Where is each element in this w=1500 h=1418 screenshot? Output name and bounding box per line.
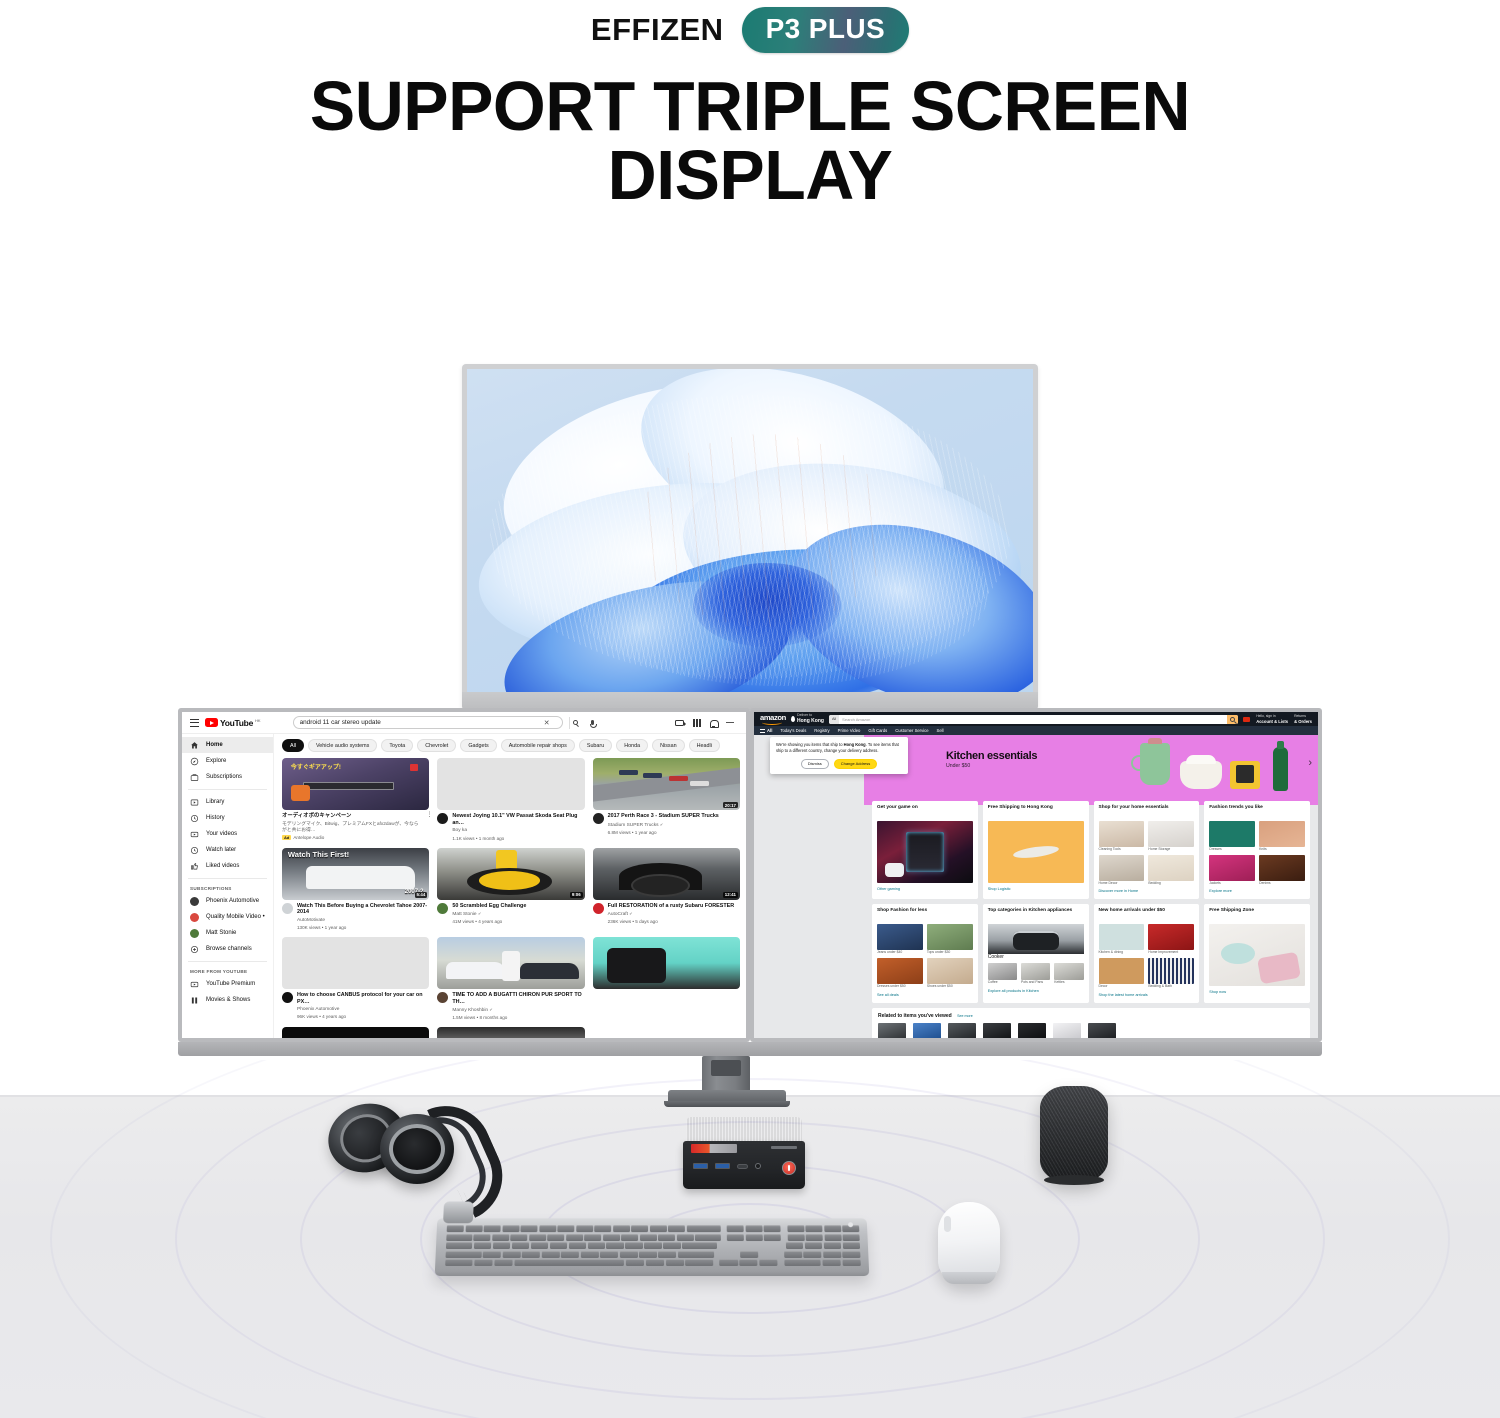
filter-chip-row: All Vehicle audio systems Toyota Chevrol… (282, 739, 740, 752)
sidebar-item-watch-later[interactable]: Watch later (182, 842, 273, 858)
movies-icon (190, 996, 199, 1005)
video-thumbnail[interactable]: TUNDRA (282, 1027, 429, 1038)
card-row: Get your game on Other gaming Free Shipp… (872, 801, 1310, 899)
card-image[interactable] (1021, 963, 1050, 980)
subscriptions-header: SUBSCRIPTIONS (182, 883, 273, 893)
account-lists-label: Account & Lists (1256, 719, 1288, 724)
filter-chip[interactable]: Gadgets (460, 739, 496, 752)
top-monitor-screen (467, 369, 1033, 692)
video-text: 2017 Perth Race 3 - Stadium SUPER Trucks… (608, 813, 740, 835)
card-image (988, 821, 1084, 883)
left-monitor: YouTube HK android 11 car stereo update … (178, 708, 750, 1042)
account-menu[interactable]: Hello, sign in Account & Lists (1256, 713, 1288, 725)
hero-subtitle: Under $50 (946, 763, 1037, 769)
video-meta: How to choose CANBUS protocol for your c… (282, 992, 429, 1019)
card-image[interactable] (988, 924, 1084, 954)
card-image[interactable] (1148, 958, 1194, 984)
sidebar-divider (188, 878, 267, 879)
product-card[interactable]: Fashion trends you like Dresses Knits Ja… (1204, 801, 1310, 899)
image-label: Bedding & Bath (1148, 985, 1194, 989)
nav-item-customer-service[interactable]: Customer Service (895, 728, 928, 733)
sidebar-item-library[interactable]: Library (182, 794, 273, 810)
search-category-dropdown[interactable]: All (829, 715, 839, 724)
play-icon (205, 718, 218, 727)
avatar (437, 992, 448, 1003)
verified-icon: ✔ (478, 911, 481, 916)
mini-pc-port-row (693, 1163, 761, 1169)
toaster-product-image (1230, 761, 1260, 789)
video-channel: AutoCraft ✔ (608, 911, 740, 918)
image-label: Cleaning Tools (1099, 848, 1145, 852)
filter-chip[interactable]: Subaru (579, 739, 612, 752)
keyboard-rows (445, 1225, 861, 1266)
filter-chip[interactable]: Honda (616, 739, 648, 752)
right-monitor-screen: amazon Deliver to Hong Kong (754, 712, 1318, 1038)
image-label: Tops under $30 (927, 951, 973, 955)
related-item[interactable] (878, 1023, 906, 1038)
product-card[interactable]: Get your game on Other gaming (872, 801, 978, 899)
clock-icon (190, 846, 199, 855)
card-quad-grid: Dresses Knits Jackets Denims (1209, 821, 1305, 885)
sidebar-divider (188, 789, 267, 790)
card-image[interactable] (877, 924, 923, 950)
video-stats: 130K views • 1 year ago (297, 925, 429, 930)
youtube-feed: All Vehicle audio systems Toyota Chevrol… (274, 734, 746, 1038)
video-duration: 12:41 (723, 892, 738, 898)
card-quad-grid: Kitchen & dining Home Improvement Decor … (1099, 924, 1195, 988)
video-duration: 9:06 (570, 892, 583, 898)
top-monitor (462, 364, 1038, 710)
card-link[interactable]: Explore all products in Kitchen (988, 989, 1084, 993)
sidebar-label: Home (206, 742, 223, 748)
avatar (437, 813, 448, 824)
video-title: Watch This Before Buying a Chevrolet Tah… (297, 903, 429, 917)
card-link[interactable]: Explore more (1209, 889, 1305, 893)
video-text: オーディオボのキャンペーン モデリングマイク、Bitwig、プレミアムFXとaf… (282, 813, 422, 840)
image-label: Jackets (1209, 882, 1255, 886)
video-duration: 5:44 (415, 892, 428, 898)
usb-a-port[interactable] (715, 1163, 730, 1169)
youtube-logo-text: YouTube (220, 718, 253, 728)
video-grid: 今すぐギアアップ! オーディオボのキャンペーン モデリングマイク、Bitwig、… (282, 758, 740, 1038)
video-duration: 20:17 (723, 802, 738, 808)
video-thumbnail[interactable]: 20:17 (593, 758, 740, 810)
image-label: Kitchen & dining (1099, 951, 1145, 955)
video-stats: 41M views • 4 years ago (452, 919, 584, 924)
channel-label: Quality Mobile Video • (206, 914, 265, 920)
video-channel: Phoenix Automotive (297, 1007, 429, 1013)
card-quad-grid: Coffee Pots and Pans Kettles (988, 963, 1084, 985)
returns-orders-menu[interactable]: Returns & Orders (1294, 713, 1312, 725)
video-text: 50 Scrambled Egg Challenge Matt Stonie ✔… (452, 903, 584, 925)
hamburger-menu-icon[interactable] (190, 719, 199, 727)
apps-grid-icon[interactable] (693, 719, 701, 727)
card-image[interactable] (1099, 958, 1145, 984)
video-card[interactable]: 今すぐギアアップ! オーディオボのキャンペーン モデリングマイク、Bitwig、… (282, 758, 429, 840)
filter-chip[interactable]: Chevrolet (417, 739, 456, 752)
card-image[interactable] (988, 963, 1017, 980)
video-thumbnail[interactable]: Watch This First! 2007-2 5:44 (282, 848, 429, 900)
card-row: Shop Fashion for less Jeans under $40 To… (872, 904, 1310, 1002)
video-card[interactable]: Newest Joying 10.1" VW Passat Skoda Seat… (437, 758, 584, 840)
subscriptions-icon (190, 773, 199, 782)
sidebar-item-liked-videos[interactable]: Liked videos (182, 858, 273, 874)
keyboard-row (446, 1242, 860, 1249)
country-flag-icon[interactable] (1243, 717, 1250, 722)
deliver-to-label: Deliver to (797, 713, 812, 717)
video-channel: Manny Khoshbin ✔ (452, 1007, 584, 1014)
video-channel: Boy ka (452, 828, 584, 834)
card-title: Shop Fashion for less (877, 908, 973, 920)
related-item[interactable] (948, 1023, 976, 1038)
card-link[interactable]: See all deals (877, 993, 973, 997)
card-title: Top categories in Kitchen appliances (988, 908, 1084, 920)
related-item[interactable] (1053, 1023, 1081, 1038)
video-title: Newest Joying 10.1" VW Passat Skoda Seat… (452, 813, 584, 827)
video-text: Watch This Before Buying a Chevrolet Tah… (297, 903, 429, 930)
image-label: Denims (1259, 882, 1305, 886)
product-card[interactable]: Free Shipping Zone Shop now (1204, 904, 1310, 1002)
video-title: オーディオボのキャンペーン (282, 813, 422, 820)
nav-item-gift-cards[interactable]: Gift Cards (868, 728, 887, 733)
wireless-keyboard[interactable] (435, 1218, 870, 1276)
related-items-section: Related to items you've viewed See more (872, 1008, 1310, 1038)
sidebar-item-explore[interactable]: Explore (182, 753, 273, 769)
related-item[interactable] (1088, 1023, 1116, 1038)
location-pin-icon (791, 716, 795, 722)
audio-jack[interactable] (755, 1163, 761, 1169)
product-card[interactable]: Shop for your home essentials Cleaning T… (1094, 801, 1200, 899)
usb-c-port[interactable] (737, 1164, 748, 1169)
verified-icon: ✔ (660, 822, 663, 827)
keyboard-row (447, 1225, 860, 1232)
card-link[interactable]: Shop Logistic (988, 887, 1084, 891)
kettle-product-image (1140, 743, 1170, 785)
video-card-partial[interactable] (437, 1027, 584, 1038)
hero-banner[interactable]: ‹ › Kitchen essentials Under $50 (864, 735, 1318, 795)
left-monitor-screen: YouTube HK android 11 car stereo update … (182, 712, 746, 1038)
card-title: Get your game on (877, 805, 973, 817)
notifications-bell-icon[interactable] (710, 719, 717, 727)
card-link[interactable]: Shop the latest home arrivals (1099, 993, 1195, 997)
page-title: SUPPORT TRIPLE SCREEN DISPLAY (23, 72, 1478, 211)
video-thumbnail[interactable] (437, 937, 584, 989)
more-options-icon[interactable]: ⋮ (426, 813, 429, 840)
card-image[interactable] (1148, 821, 1194, 847)
avatar (593, 813, 604, 824)
channel-label: Phoenix Automotive (206, 898, 259, 904)
thumbnail-overlay-text: Watch This First! (288, 850, 349, 859)
nav-item-prime-video[interactable]: Prime Video (838, 728, 861, 733)
video-meta: Newest Joying 10.1" VW Passat Skoda Seat… (437, 813, 584, 840)
voice-search-button[interactable] (587, 720, 599, 725)
image-label: Pots and Pans (1021, 981, 1050, 985)
product-card[interactable]: Top categories in Kitchen appliances Coo… (983, 904, 1089, 1002)
video-meta: TIME TO ADD A BUGATTI CHIRON PUR SPORT T… (437, 992, 584, 1020)
power-button[interactable] (782, 1161, 796, 1175)
amazon-card-grid: Get your game on Other gaming Free Shipp… (872, 801, 1310, 1038)
right-monitor: amazon Deliver to Hong Kong (750, 708, 1322, 1042)
search-input[interactable]: android 11 car stereo update ✕ (293, 716, 563, 729)
image-label: Bedding (1148, 882, 1194, 886)
mouse-scroll-wheel[interactable] (944, 1216, 951, 1232)
filter-chip[interactable]: Nissan (652, 739, 684, 752)
video-thumbnail[interactable]: 今すぐギアアップ! (282, 758, 429, 810)
nav-item-sell[interactable]: Sell (937, 728, 944, 733)
channel-label: Browse channels (206, 946, 252, 952)
video-card[interactable]: 9:06 50 Scrambled Egg Challenge Matt Sto… (437, 848, 584, 930)
card-image[interactable] (1209, 855, 1255, 881)
search-icon (1230, 717, 1235, 722)
keyboard-dial[interactable] (443, 1202, 474, 1224)
video-channel: Stadium SUPER Trucks ✔ (608, 822, 740, 829)
image-label: Shoes under $50 (927, 985, 973, 989)
verified-icon: ✔ (629, 911, 632, 916)
minimize-icon[interactable] (726, 722, 734, 723)
avatar (593, 903, 604, 914)
deliver-to-country: Hong Kong (797, 718, 824, 724)
sidebar-divider (188, 961, 267, 962)
avatar (190, 913, 199, 922)
card-image[interactable] (1099, 821, 1145, 847)
video-meta: Watch This Before Buying a Chevrolet Tah… (282, 903, 429, 930)
sidebar-label: History (206, 815, 225, 821)
card-image[interactable] (1148, 855, 1194, 881)
video-card[interactable]: How to choose CANBUS protocol for your c… (282, 937, 429, 1020)
related-items-strip (878, 1023, 1304, 1038)
search-input[interactable]: Search Amazon (839, 717, 870, 722)
sidebar-label: Subscriptions (206, 774, 242, 780)
clear-search-icon[interactable]: ✕ (544, 719, 550, 727)
lower-monitor-chin (178, 1042, 1322, 1056)
video-card[interactable]: TIME TO ADD A BUGATTI CHIRON PUR SPORT T… (437, 937, 584, 1020)
youtube-body: Home Explore (182, 734, 746, 1038)
video-thumbnail[interactable]: 12:41 (593, 848, 740, 900)
popup-actions: Dismiss Change Address (776, 759, 902, 769)
card-title: Free Shipping to Hong Kong (988, 805, 1084, 817)
youtube-topbar-actions (675, 719, 738, 727)
bottle-product-image (1273, 747, 1288, 791)
thumbs-up-icon (190, 862, 199, 871)
sidebar-browse-channels[interactable]: Browse channels (182, 941, 273, 957)
plus-circle-icon (190, 945, 199, 954)
video-stats: 6.8M views • 1 year ago (608, 830, 740, 835)
search-button[interactable] (569, 717, 581, 729)
keyboard-status-led (848, 1222, 853, 1227)
card-quad-grid: Jeans under $40 Tops under $30 Dresses u… (877, 924, 973, 988)
related-item[interactable] (913, 1023, 941, 1038)
sidebar-item-your-videos[interactable]: Your videos (182, 826, 273, 842)
card-image[interactable] (1209, 821, 1255, 847)
card-image[interactable] (1259, 855, 1305, 881)
video-card[interactable]: 20:17 2017 Perth Race 3 - Stadium SUPER … (593, 758, 740, 840)
video-text: Newest Joying 10.1" VW Passat Skoda Seat… (452, 813, 584, 840)
filter-chip-all[interactable]: All (282, 739, 304, 752)
sidebar-label: Movies & Shows (206, 997, 250, 1003)
video-title: 2017 Perth Race 3 - Stadium SUPER Trucks (608, 813, 740, 820)
compass-icon (190, 757, 199, 766)
over-ear-headphones (322, 1090, 510, 1198)
card-title: Shop for your home essentials (1099, 805, 1195, 817)
video-stats: 1.5M views • 8 months ago (452, 1015, 584, 1020)
usb-a-port[interactable] (693, 1163, 708, 1169)
related-item[interactable] (1018, 1023, 1046, 1038)
card-image[interactable] (927, 958, 973, 984)
product-card[interactable]: Free Shipping to Hong Kong Shop Logistic (983, 801, 1089, 899)
headline-line-2: DISPLAY (23, 141, 1478, 210)
amazon-header: amazon Deliver to Hong Kong (754, 712, 1318, 726)
mini-pc-brand-label (691, 1144, 737, 1153)
youtube-logo[interactable]: YouTube HK (205, 718, 261, 728)
more-from-youtube-header: MORE FROM YOUTUBE (182, 966, 273, 976)
card-image[interactable] (1148, 924, 1194, 950)
card-title: Fashion trends you like (1209, 805, 1305, 817)
amazon-content: ‹ › Kitchen essentials Under $50 (754, 735, 1318, 1038)
video-stats: 236K views • 5 days ago (608, 919, 740, 924)
history-icon (190, 814, 199, 823)
deliver-to-selector[interactable]: Deliver to Hong Kong (791, 713, 824, 725)
premium-icon (190, 980, 199, 989)
carousel-next-icon[interactable]: › (1308, 757, 1312, 769)
dismiss-button[interactable]: Dismiss (801, 759, 829, 769)
see-more-link[interactable]: See more (957, 1014, 973, 1018)
card-image[interactable] (927, 924, 973, 950)
avatar (282, 903, 293, 914)
image-label: Kettles (1054, 981, 1083, 985)
search-button[interactable] (1227, 715, 1238, 724)
card-link[interactable]: Discover more in Home (1099, 889, 1195, 893)
video-card-partial[interactable] (593, 937, 740, 1020)
video-thumbnail[interactable] (593, 937, 740, 989)
related-item[interactable] (983, 1023, 1011, 1038)
monitor-stand-base (668, 1090, 786, 1104)
orders-label: & Orders (1294, 719, 1312, 724)
amazon-app: amazon Deliver to Hong Kong (754, 712, 1318, 1038)
nav-item-todays-deals[interactable]: Today's Deals (780, 728, 806, 733)
video-meta: オーディオボのキャンペーン モデリングマイク、Bitwig、プレミアムFXとaf… (282, 813, 429, 840)
avatar (190, 929, 199, 938)
card-image[interactable] (1054, 963, 1083, 980)
mini-pc-top-vents (686, 1117, 802, 1143)
microphone-icon (591, 720, 594, 725)
ad-badge: Ad (282, 835, 291, 840)
nav-item-registry[interactable]: Registry (814, 728, 829, 733)
sidebar-channel-quality-mobile-video[interactable]: Quality Mobile Video • (182, 909, 273, 925)
library-icon (190, 798, 199, 807)
product-card[interactable]: New home arrivals under $50 Kitchen & di… (1094, 904, 1200, 1002)
video-meta: Full RESTORATION of a rusty Subaru FORES… (593, 903, 740, 925)
desk-scene: YouTube HK android 11 car stereo update … (0, 300, 1500, 1418)
image-label: Home Storage (1148, 848, 1194, 852)
video-card-partial[interactable]: TUNDRA (282, 1027, 429, 1038)
sidebar-item-history[interactable]: History (182, 810, 273, 826)
verified-icon: ✔ (489, 1007, 492, 1012)
video-thumbnail[interactable] (282, 937, 429, 989)
image-label: Dresses (1209, 848, 1255, 852)
youtube-topbar: YouTube HK android 11 car stereo update … (182, 712, 746, 734)
card-image[interactable] (1259, 821, 1305, 847)
popup-text: We're showing you items that ship to Hon… (776, 742, 902, 754)
card-title: Free Shipping Zone (1209, 908, 1305, 920)
sidebar-item-subscriptions[interactable]: Subscriptions (182, 769, 273, 785)
product-feature-page: EFFIZEN P3 PLUS SUPPORT TRIPLE SCREEN DI… (0, 0, 1500, 1418)
amazon-logo[interactable]: amazon (760, 714, 786, 724)
filter-chip[interactable]: Vehicle audio systems (308, 739, 377, 752)
sidebar-label: Watch later (206, 847, 236, 853)
change-address-button[interactable]: Change Address (834, 759, 878, 769)
youtube-region-superscript: HK (255, 718, 261, 723)
search-bar[interactable]: All Search Amazon (829, 715, 1238, 724)
video-text: TIME TO ADD A BUGATTI CHIRON PUR SPORT T… (452, 992, 584, 1020)
video-thumbnail[interactable]: 9:06 (437, 848, 584, 900)
card-image[interactable] (1099, 924, 1145, 950)
lower-monitor-pair: YouTube HK android 11 car stereo update … (178, 708, 1322, 1056)
video-channel: AutoMotivate (297, 918, 429, 924)
video-description: モデリングマイク、Bitwig、プレミアムFXとafx2dawが、今ならがと共に… (282, 822, 422, 834)
headline-line-1: SUPPORT TRIPLE SCREEN (310, 67, 1190, 145)
sidebar-item-movies-shows[interactable]: Movies & Shows (182, 992, 273, 1008)
search-query-text: android 11 car stereo update (300, 719, 544, 726)
image-label: Dresses under $50 (877, 985, 923, 989)
brand-name: EFFIZEN (591, 12, 724, 48)
card-link[interactable]: Shop now (1209, 990, 1305, 994)
video-card[interactable]: 12:41 Full RESTORATION of a rusty Subaru… (593, 848, 740, 930)
video-title: Full RESTORATION of a rusty Subaru FORES… (608, 903, 740, 910)
amazon-header-actions: Hello, sign in Account & Lists Returns &… (1243, 713, 1312, 725)
amazon-navbar: All Today's Deals Registry Prime Video G… (754, 726, 1318, 735)
card-image[interactable] (1099, 855, 1145, 881)
filter-chip[interactable]: Automobile repair shops (501, 739, 575, 752)
mini-pc[interactable] (683, 1117, 805, 1189)
video-title: How to choose CANBUS protocol for your c… (297, 992, 429, 1006)
youtube-sidebar: Home Explore (182, 734, 274, 1038)
sidebar-label: Liked videos (206, 863, 239, 869)
sidebar-channel-phoenix-automotive[interactable]: Phoenix Automotive (182, 893, 273, 909)
create-video-icon[interactable] (675, 720, 684, 726)
video-channel: Matt Stonie ✔ (452, 911, 584, 918)
avatar (282, 992, 293, 1003)
video-stats: 96K views • 4 years ago (297, 1014, 429, 1019)
sidebar-label: YouTube Premium (206, 981, 255, 987)
wireless-mouse[interactable] (938, 1202, 1000, 1284)
pot-product-image (1180, 761, 1222, 789)
filter-chip[interactable]: Toyota (381, 739, 413, 752)
related-title: Related to items you've viewed (878, 1013, 952, 1019)
smart-speaker (1040, 1086, 1108, 1182)
video-thumbnail[interactable] (437, 758, 584, 810)
video-stats: 1.1K views • 1 month ago (452, 836, 584, 841)
card-image (877, 821, 973, 883)
keyboard-row (445, 1259, 861, 1266)
video-card[interactable]: Watch This First! 2007-2 5:44 (282, 848, 429, 930)
mini-pc-model-label (771, 1146, 797, 1149)
sidebar-item-youtube-premium[interactable]: YouTube Premium (182, 976, 273, 992)
filter-chip[interactable]: Headli (689, 739, 720, 752)
sidebar-label: Your videos (206, 831, 237, 837)
video-meta: 2017 Perth Race 3 - Stadium SUPER Trucks… (593, 813, 740, 835)
sidebar-channel-matt-stonie[interactable]: Matt Stonie (182, 925, 273, 941)
product-card[interactable]: Shop Fashion for less Jeans under $40 To… (872, 904, 978, 1002)
account-greeting: Hello, sign in (1256, 714, 1275, 718)
card-image[interactable] (877, 958, 923, 984)
sidebar-label: Library (206, 799, 224, 805)
keyboard-row (446, 1250, 861, 1257)
video-thumbnail[interactable] (437, 1027, 584, 1038)
card-link[interactable]: Other gaming (877, 887, 973, 891)
sidebar-item-home[interactable]: Home (182, 737, 273, 753)
image-label: Jeans under $40 (877, 951, 923, 955)
nav-all-button[interactable]: All (760, 728, 772, 733)
